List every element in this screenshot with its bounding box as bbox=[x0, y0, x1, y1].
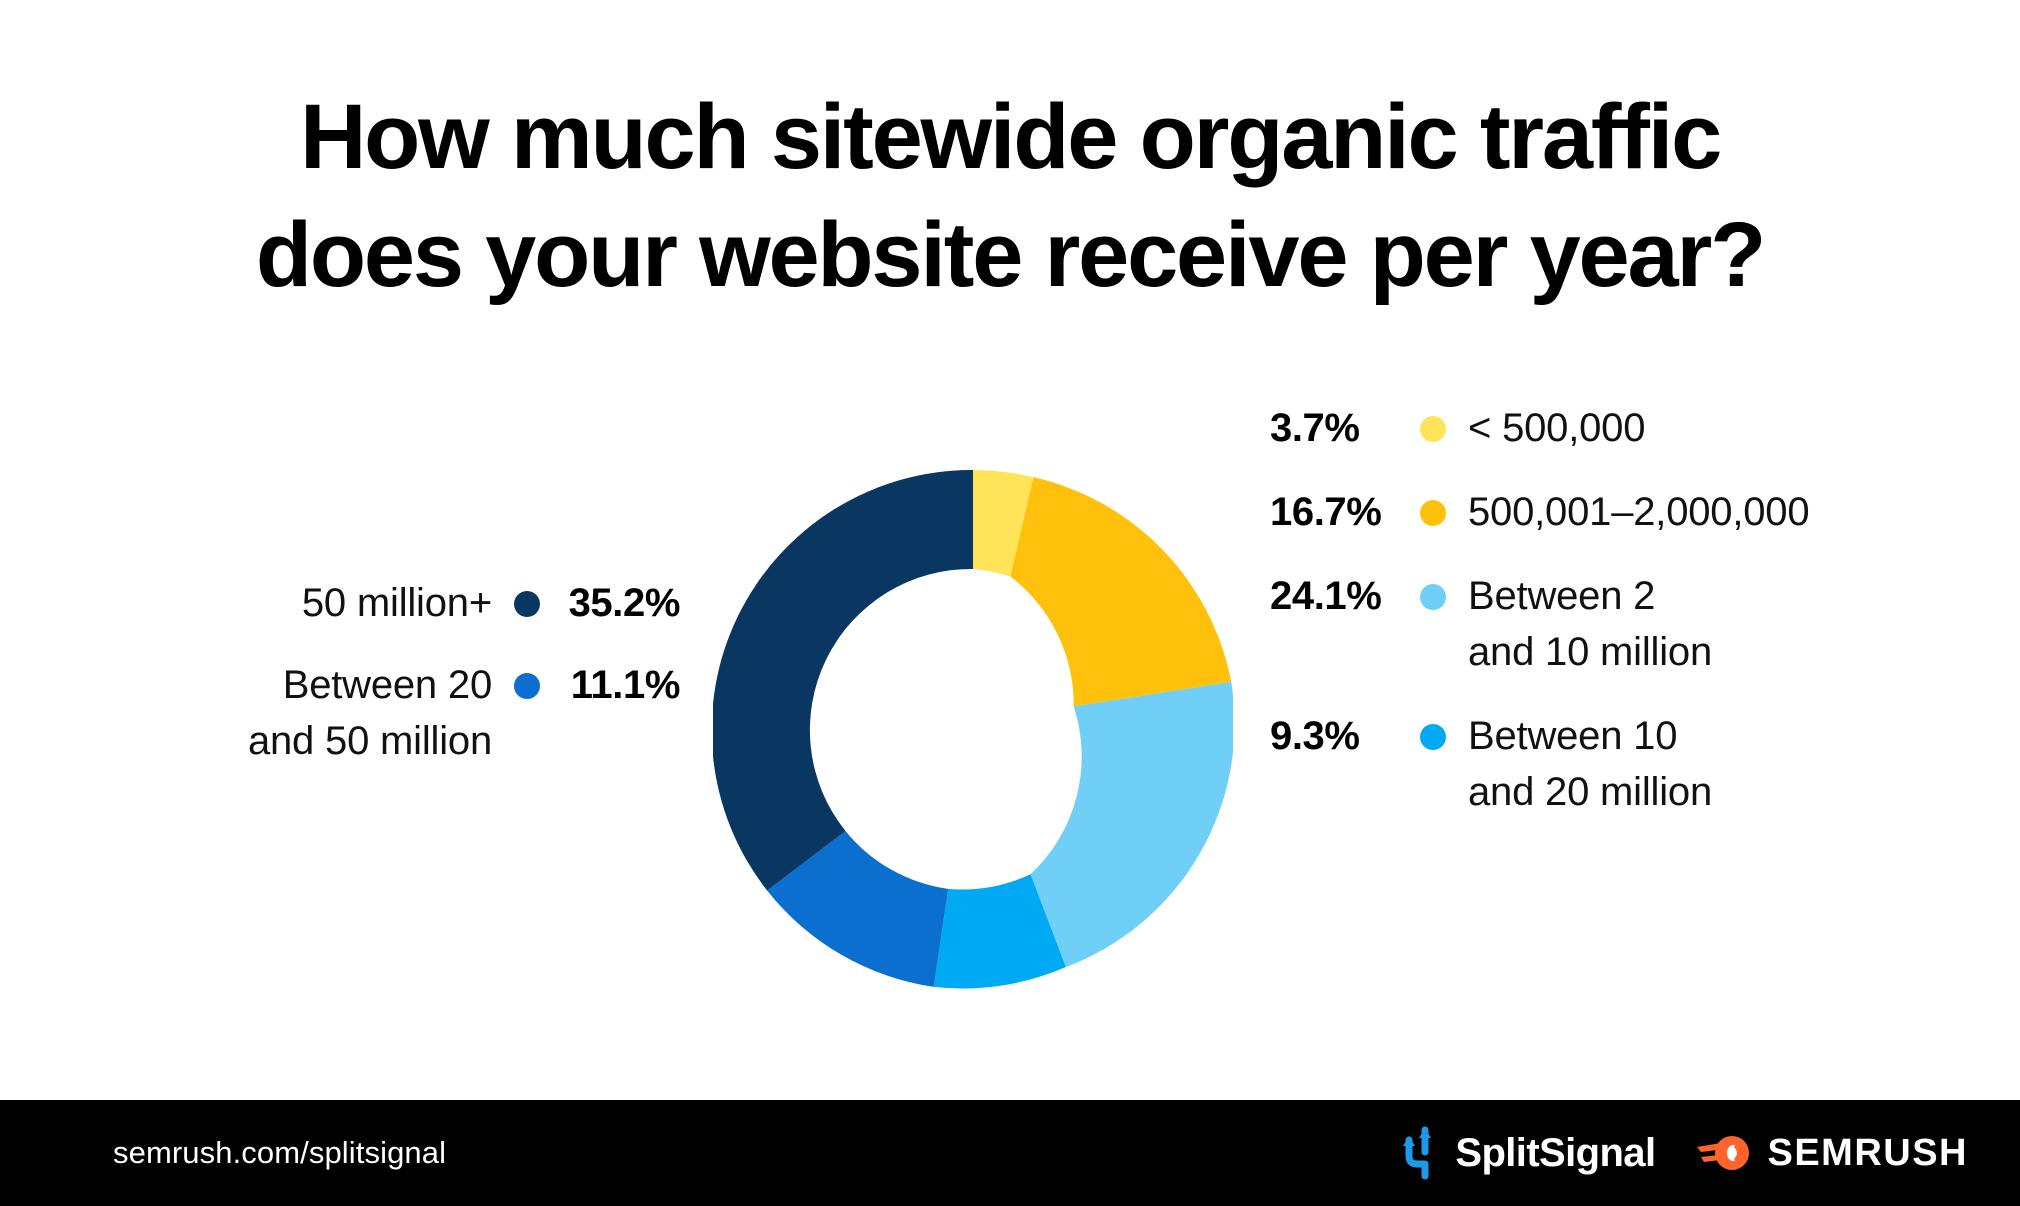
legend-label: Between 2 and 10 million bbox=[1468, 568, 1712, 680]
legend-percent: 9.3% bbox=[1270, 708, 1400, 764]
legend-item[interactable]: 3.7% < 500,000 bbox=[1270, 400, 1970, 456]
title-line-2: does your website receive per year? bbox=[0, 196, 2020, 314]
semrush-mark-icon bbox=[1695, 1129, 1755, 1177]
legend-item[interactable]: 50 million+ 35.2% bbox=[120, 575, 680, 631]
footer-url[interactable]: semrush.com/splitsignal bbox=[113, 1135, 446, 1171]
legend-label-line-1: 500,001–2,000,000 bbox=[1468, 484, 1809, 540]
legend-color-swatch-icon bbox=[1420, 500, 1446, 526]
legend-item[interactable]: 9.3% Between 10 and 20 million bbox=[1270, 708, 1970, 820]
donut-segment-500k-2m[interactable] bbox=[1010, 477, 1231, 706]
legend-right: 3.7% < 500,000 16.7% 500,001–2,000,000 2… bbox=[1270, 400, 1970, 848]
legend-color-swatch-icon bbox=[1420, 584, 1446, 610]
legend-percent: 16.7% bbox=[1270, 484, 1400, 540]
legend-label-line-1: Between 2 bbox=[1468, 568, 1712, 624]
legend-label-line-2: and 50 million bbox=[248, 713, 492, 769]
legend-label: Between 20 and 50 million bbox=[248, 657, 492, 769]
legend-label-line-1: 50 million+ bbox=[302, 575, 492, 631]
splitsignal-logo-text: SplitSignal bbox=[1455, 1131, 1655, 1176]
legend-item[interactable]: 16.7% 500,001–2,000,000 bbox=[1270, 484, 1970, 540]
legend-label-line-1: < 500,000 bbox=[1468, 400, 1645, 456]
legend-label: Between 10 and 20 million bbox=[1468, 708, 1712, 820]
legend-item[interactable]: 24.1% Between 2 and 10 million bbox=[1270, 568, 1970, 680]
legend-item[interactable]: Between 20 and 50 million 11.1% bbox=[120, 657, 680, 769]
legend-color-swatch-icon bbox=[1420, 416, 1446, 442]
legend-label: 50 million+ bbox=[302, 575, 492, 631]
page-title: How much sitewide organic traffic does y… bbox=[0, 78, 2020, 314]
legend-color-swatch-icon bbox=[514, 591, 540, 617]
donut-chart bbox=[713, 470, 1233, 990]
donut-segment-2m-10m[interactable] bbox=[1030, 682, 1233, 967]
donut-chart-svg bbox=[713, 470, 1233, 990]
semrush-logo-text: SEMRUSH bbox=[1767, 1132, 1968, 1175]
splitsignal-mark-icon bbox=[1399, 1126, 1443, 1180]
splitsignal-logo[interactable]: SplitSignal bbox=[1399, 1126, 1655, 1180]
donut-segments bbox=[713, 470, 1233, 988]
legend-color-swatch-icon bbox=[514, 673, 540, 699]
title-line-1: How much sitewide organic traffic bbox=[0, 78, 2020, 196]
legend-label-line-2: and 20 million bbox=[1468, 764, 1712, 820]
legend-label-line-2: and 10 million bbox=[1468, 624, 1712, 680]
chart-stage: 50 million+ 35.2% Between 20 and 50 mill… bbox=[0, 400, 2020, 1040]
footer-bar: semrush.com/splitsignal SplitSignal SEMR… bbox=[0, 1100, 2020, 1206]
donut-segment-50m-plus[interactable] bbox=[713, 470, 973, 891]
legend-percent: 35.2% bbox=[560, 575, 680, 631]
legend-label: < 500,000 bbox=[1468, 400, 1645, 456]
footer-logos: SplitSignal SEMRUSH bbox=[1399, 1126, 1968, 1180]
legend-percent: 11.1% bbox=[560, 657, 680, 713]
semrush-logo[interactable]: SEMRUSH bbox=[1695, 1129, 1968, 1177]
legend-left: 50 million+ 35.2% Between 20 and 50 mill… bbox=[120, 575, 680, 795]
legend-percent: 3.7% bbox=[1270, 400, 1400, 456]
legend-label: 500,001–2,000,000 bbox=[1468, 484, 1809, 540]
legend-percent: 24.1% bbox=[1270, 568, 1400, 624]
legend-label-line-1: Between 20 bbox=[248, 657, 492, 713]
legend-label-line-1: Between 10 bbox=[1468, 708, 1712, 764]
legend-color-swatch-icon bbox=[1420, 724, 1446, 750]
